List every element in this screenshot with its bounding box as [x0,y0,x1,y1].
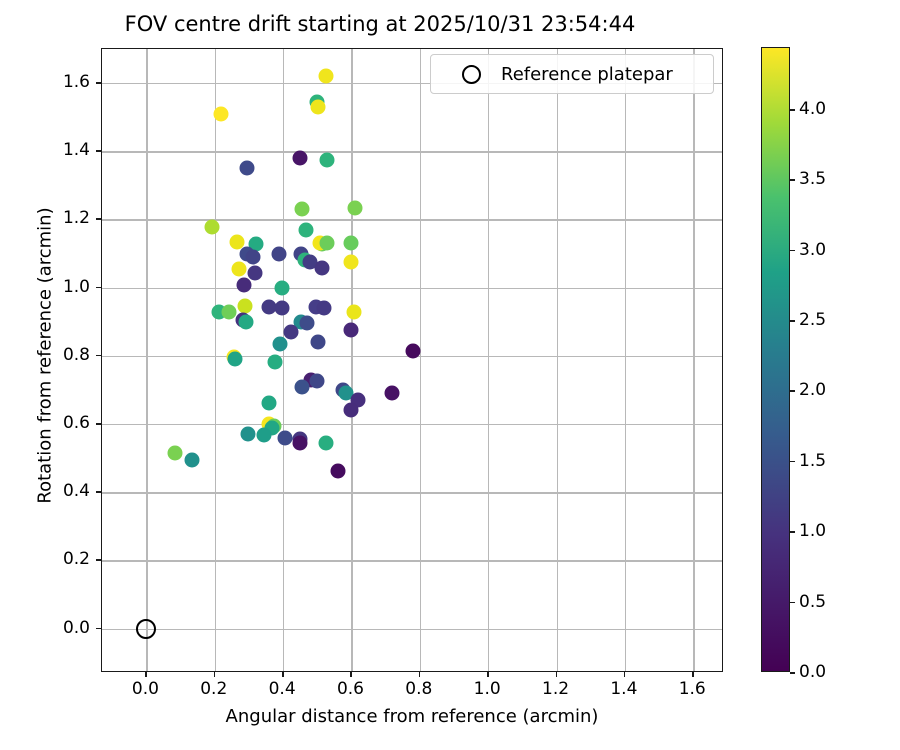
scatter-point [272,247,287,262]
x-ticklabel-2: 0.4 [269,679,296,699]
colorbar-tick-0 [790,672,795,674]
scatter-point [236,313,251,328]
colorbar-ticklabel-2: 1.0 [799,521,826,541]
scatter-point [267,354,282,369]
scatter-point [299,223,314,238]
x-tick-4 [419,672,421,677]
scatter-point [304,372,319,387]
matplotlib-figure: FOV centre drift starting at 2025/10/31 … [0,0,900,750]
scatter-point [311,335,326,350]
scatter-point [331,464,346,479]
scatter-point [266,418,281,433]
scatter-point [319,236,334,251]
y-ticklabel-0: 0.0 [63,618,90,638]
x-ticklabel-4: 0.8 [405,679,432,699]
x-ticklabel-6: 1.2 [542,679,569,699]
x-tick-5 [487,672,489,677]
scatter-point [314,260,329,275]
scatter-point [310,94,325,109]
scatter-point [293,246,308,261]
legend: Reference platepar [430,54,714,94]
colorbar-ticklabel-6: 3.0 [799,240,826,260]
gridline-vertical-1 [215,49,216,671]
scatter-point [406,343,421,358]
y-tick-0 [96,628,101,630]
gridline-vertical-6 [557,49,558,671]
gridline-vertical-8 [693,49,694,671]
gridline-horizontal-2 [102,492,722,493]
grid-layer [102,49,722,671]
scatter-point [303,255,318,270]
scatter-point [277,431,292,446]
colorbar-tick-3 [790,461,795,463]
scatter-point [231,261,246,276]
scatter-point [343,255,358,270]
x-tick-6 [556,672,558,677]
scatter-point [311,99,326,114]
scatter-point [344,402,359,417]
x-ticklabel-7: 1.4 [610,679,637,699]
colorbar-ticklabel-8: 4.0 [799,99,826,119]
y-tick-3 [96,423,101,425]
scatter-point [261,417,276,432]
colorbar-tick-8 [790,109,795,111]
y-ticklabel-8: 1.6 [63,72,90,92]
legend-open-circle-icon [462,65,481,84]
colorbar-tick-7 [790,179,795,181]
scatter-point [236,277,251,292]
scatter-point [294,380,309,395]
colorbar-ticklabel-5: 2.5 [799,310,826,330]
plot-area [101,48,723,672]
scatter-point [240,246,255,261]
scatter-point [283,325,298,340]
colorbar-ticklabel-0: 0.0 [799,662,826,682]
scatter-point [205,219,220,234]
x-ticklabel-5: 1.0 [474,679,501,699]
y-tick-6 [96,218,101,220]
scatter-point [213,106,228,121]
scatter-point [309,374,324,389]
colorbar-ticklabel-7: 3.5 [799,169,826,189]
scatter-point [347,200,362,215]
gridline-horizontal-1 [102,560,722,561]
gridline-horizontal-6 [102,219,722,220]
gridline-vertical-7 [625,49,626,671]
scatter-point [313,236,328,251]
gridline-horizontal-3 [102,424,722,425]
scatter-point [292,435,307,450]
y-ticklabel-6: 1.2 [63,208,90,228]
scatter-point [293,432,308,447]
scatter-point [339,386,354,401]
y-ticklabel-5: 1.0 [63,277,90,297]
gridline-horizontal-0 [102,629,722,630]
gridline-vertical-3 [351,49,352,671]
scatter-point [241,427,256,442]
scatter-point [227,352,242,367]
scatter-point [384,386,399,401]
colorbar-gradient [761,47,790,672]
gridline-vertical-4 [420,49,421,671]
gridline-horizontal-7 [102,151,722,152]
scatter-point [344,323,359,338]
page-title: FOV centre drift starting at 2025/10/31 … [0,12,760,36]
colorbar-tick-4 [790,390,795,392]
colorbar-tick-5 [790,320,795,322]
scatter-point [300,316,315,331]
x-tick-0 [145,672,147,677]
x-tick-3 [350,672,352,677]
scatter-point [239,161,254,176]
scatter-point [262,395,277,410]
colorbar-tick-2 [790,531,795,533]
scatter-point [262,300,277,315]
scatter-point [184,452,199,467]
scatter-point [318,435,333,450]
reference-point-layer [102,49,722,671]
scatter-point [226,349,241,364]
scatter-point [264,421,279,436]
y-ticklabel-3: 0.6 [63,413,90,433]
gridline-horizontal-5 [102,288,722,289]
colorbar-tick-1 [790,602,795,604]
x-tick-2 [282,672,284,677]
scatter-point [344,236,359,251]
scatter-point [229,234,244,249]
scatter-point [246,250,261,265]
scatter-point [335,382,350,397]
scatter-point [309,300,324,315]
reference-platepar-marker [136,619,156,639]
x-ticklabel-0: 0.0 [132,679,159,699]
colorbar-ticklabel-1: 0.5 [799,592,826,612]
scatter-point [347,304,362,319]
scatter-point [257,427,272,442]
x-tick-7 [624,672,626,677]
y-ticklabel-2: 0.4 [63,481,90,501]
scatter-point [275,280,290,295]
scatter-point [272,336,287,351]
scatter-point [317,301,332,316]
y-tick-8 [96,82,101,84]
x-tick-8 [692,672,694,677]
y-tick-5 [96,287,101,289]
colorbar-ticklabel-4: 2.0 [799,380,826,400]
x-tick-1 [214,672,216,677]
scatter-point [237,299,252,314]
scatter-point [292,151,307,166]
y-tick-2 [96,491,101,493]
gridline-vertical-5 [488,49,489,671]
y-tick-4 [96,355,101,357]
scatter-point [294,314,309,329]
y-ticklabel-7: 1.4 [63,140,90,160]
x-ticklabel-1: 0.2 [200,679,227,699]
x-axis-label: Angular distance from reference (arcmin) [101,706,723,727]
y-axis-label: Rotation from reference (arcmin) [35,186,56,526]
y-ticklabel-4: 0.8 [63,345,90,365]
scatter-point [350,393,365,408]
scatter-point [249,237,264,252]
gridline-vertical-0 [146,49,147,671]
scatter-point [298,252,313,267]
scatter-points-layer [102,49,722,671]
gridline-horizontal-4 [102,356,722,357]
y-tick-7 [96,150,101,152]
scatter-point [314,237,329,252]
scatter-point [212,304,227,319]
scatter-point [319,152,334,167]
scatter-point [238,314,253,329]
y-tick-1 [96,559,101,561]
scatter-point [222,305,237,320]
gridline-vertical-2 [283,49,284,671]
scatter-point [248,266,263,281]
colorbar-tick-6 [790,250,795,252]
colorbar-ticklabel-3: 1.5 [799,451,826,471]
x-ticklabel-8: 1.6 [679,679,706,699]
scatter-point [318,69,333,84]
scatter-point [167,446,182,461]
y-ticklabel-1: 0.2 [63,549,90,569]
scatter-point [294,201,309,216]
scatter-point [275,301,290,316]
x-ticklabel-3: 0.6 [337,679,364,699]
legend-label: Reference platepar [501,64,673,85]
